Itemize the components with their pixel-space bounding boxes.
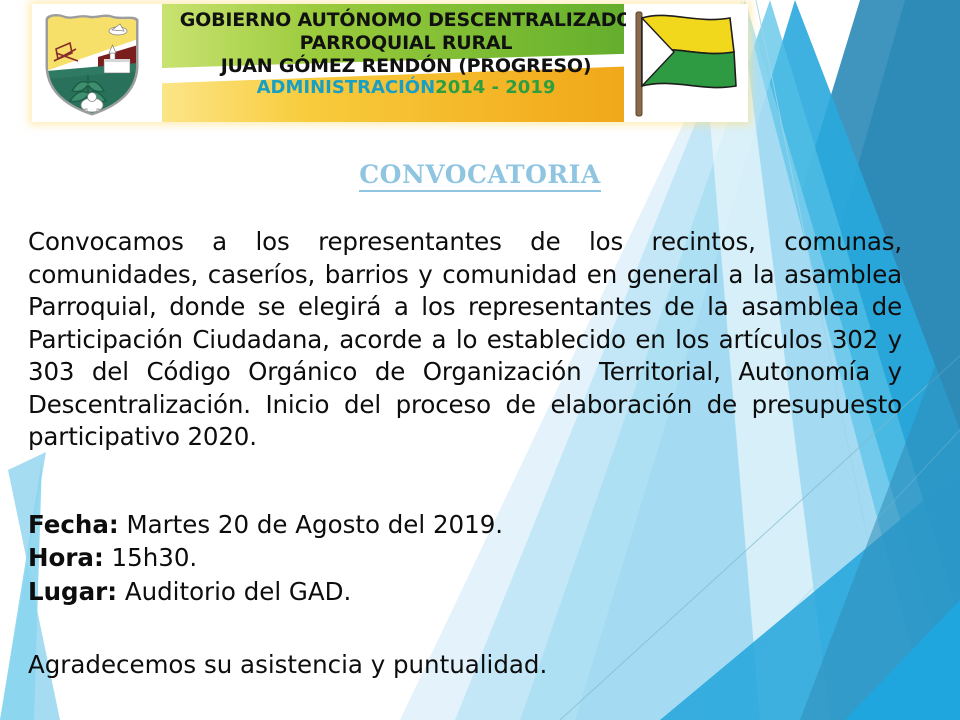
banner-line-2: PARROQUIAL RURAL xyxy=(160,34,652,53)
page-title-text: CONVOCATORIA xyxy=(359,160,600,192)
detail-row-fecha: Fecha: Martes 20 de Agosto del 2019. xyxy=(28,508,728,541)
convocation-paragraph: Convocamos a los representantes de los r… xyxy=(28,226,902,454)
parish-flag-icon xyxy=(626,8,744,118)
facet-hairline-3 xyxy=(690,430,960,720)
page-title: CONVOCATORIA xyxy=(0,160,960,189)
banner-text-block: GOBIERNO AUTÓNOMO DESCENTRALIZADO PARROQ… xyxy=(160,11,652,97)
banner-administration-line: ADMINISTRACIÓN2014 - 2019 xyxy=(160,79,652,97)
detail-value-lugar: Auditorio del GAD. xyxy=(125,577,352,606)
main-body: Convocamos a los representantes de los r… xyxy=(28,226,902,454)
detail-value-hora: 15h30. xyxy=(112,543,198,572)
detail-label-fecha: Fecha: xyxy=(28,510,119,539)
event-details: Fecha: Martes 20 de Agosto del 2019. Hor… xyxy=(28,508,728,608)
detail-row-hora: Hora: 15h30. xyxy=(28,541,728,574)
institutional-header-banner: GOBIERNO AUTÓNOMO DESCENTRALIZADO PARROQ… xyxy=(32,4,748,122)
banner-line-3: JUAN GÓMEZ RENDÓN (PROGRESO) xyxy=(160,57,652,76)
facet-shape-lower-bright xyxy=(845,600,960,720)
detail-value-fecha: Martes 20 de Agosto del 2019. xyxy=(126,510,503,539)
slide-canvas: GOBIERNO AUTÓNOMO DESCENTRALIZADO PARROQ… xyxy=(0,0,960,720)
closing-line: Agradecemos su asistencia y puntualidad. xyxy=(28,650,728,679)
coat-of-arms-icon xyxy=(36,9,158,117)
detail-row-lugar: Lugar: Auditorio del GAD. xyxy=(28,575,728,608)
administration-years: 2014 - 2019 xyxy=(435,77,555,98)
administration-word: ADMINISTRACIÓN xyxy=(257,77,436,98)
detail-label-lugar: Lugar: xyxy=(28,577,117,606)
banner-line-1: GOBIERNO AUTÓNOMO DESCENTRALIZADO xyxy=(160,11,652,30)
detail-label-hora: Hora: xyxy=(28,543,104,572)
